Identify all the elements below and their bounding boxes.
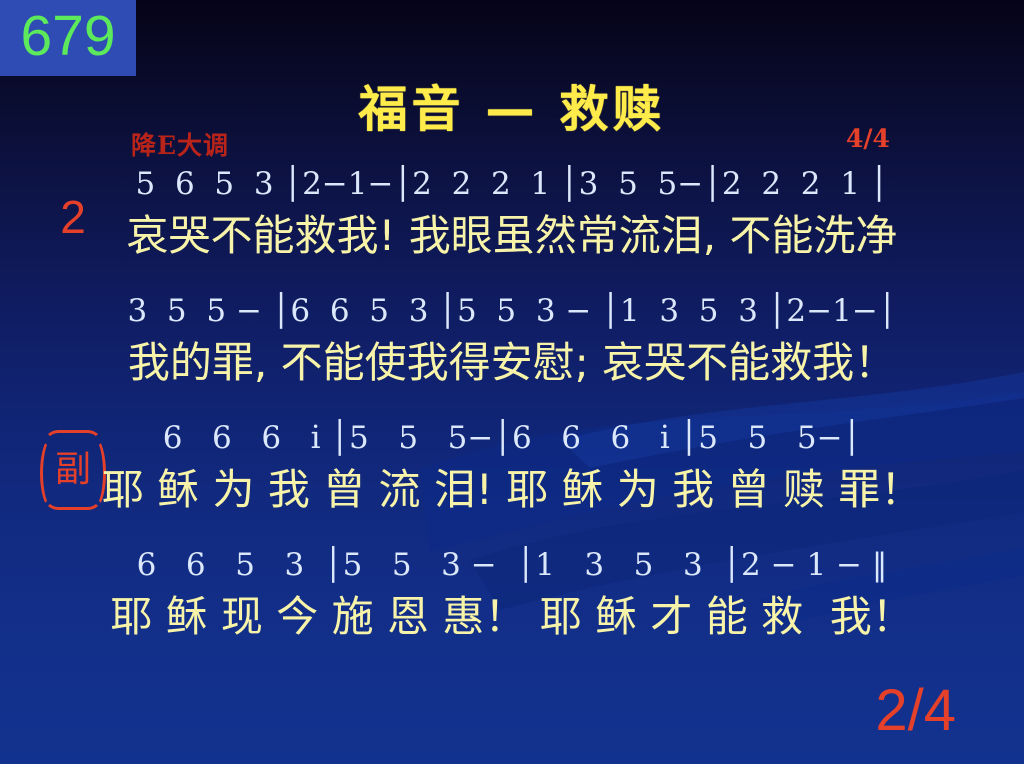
stanza-row: 副 6 6 6 i̇ │5 5 5−│6 6 6 i̇ │5 5 5−│ 耶 稣… (0, 414, 1024, 541)
stanza-row: 6 6 5 3 │5 5 3 − │1 3 5 3 │2 − 1 − ‖ 耶 稣… (0, 541, 1024, 668)
hymn-slide: 679 福音 — 救赎 降E大调 4/4 2 5 6 5 3 │2−1−│2 2… (0, 0, 1024, 764)
stanza-row: 2 5 6 5 3 │2−1−│2 2 2 1 │3 5 5−│2 2 2 1 … (0, 160, 1024, 287)
lyrics-row: 耶 稣 为 我 曾 流 泪! 耶 稣 为 我 曾 赎 罪！ (0, 454, 1024, 518)
lyrics-row: 耶 稣 现 今 施 恩 惠！ 耶 稣 才 能 救 我！ (0, 581, 1024, 645)
music-body: 2 5 6 5 3 │2−1−│2 2 2 1 │3 5 5−│2 2 2 1 … (0, 160, 1024, 668)
key-signature-label: 降E大调 (131, 126, 229, 162)
lyrics-row: 哀哭不能救我! 我眼虽然常流泪, 不能洗净 (0, 200, 1024, 264)
page-indicator: 2/4 (875, 682, 956, 740)
stanza-row: 3 5 5 − │6 6 5 3 │5 5 3 − │1 3 5 3 │2−1−… (0, 287, 1024, 414)
lyrics-row: 我的罪, 不能使我得安慰; 哀哭不能救我！ (0, 327, 1024, 391)
hymn-number-text: 679 (20, 8, 115, 65)
hymn-number-badge: 679 (0, 0, 136, 76)
time-signature-label: 4/4 (846, 124, 890, 153)
